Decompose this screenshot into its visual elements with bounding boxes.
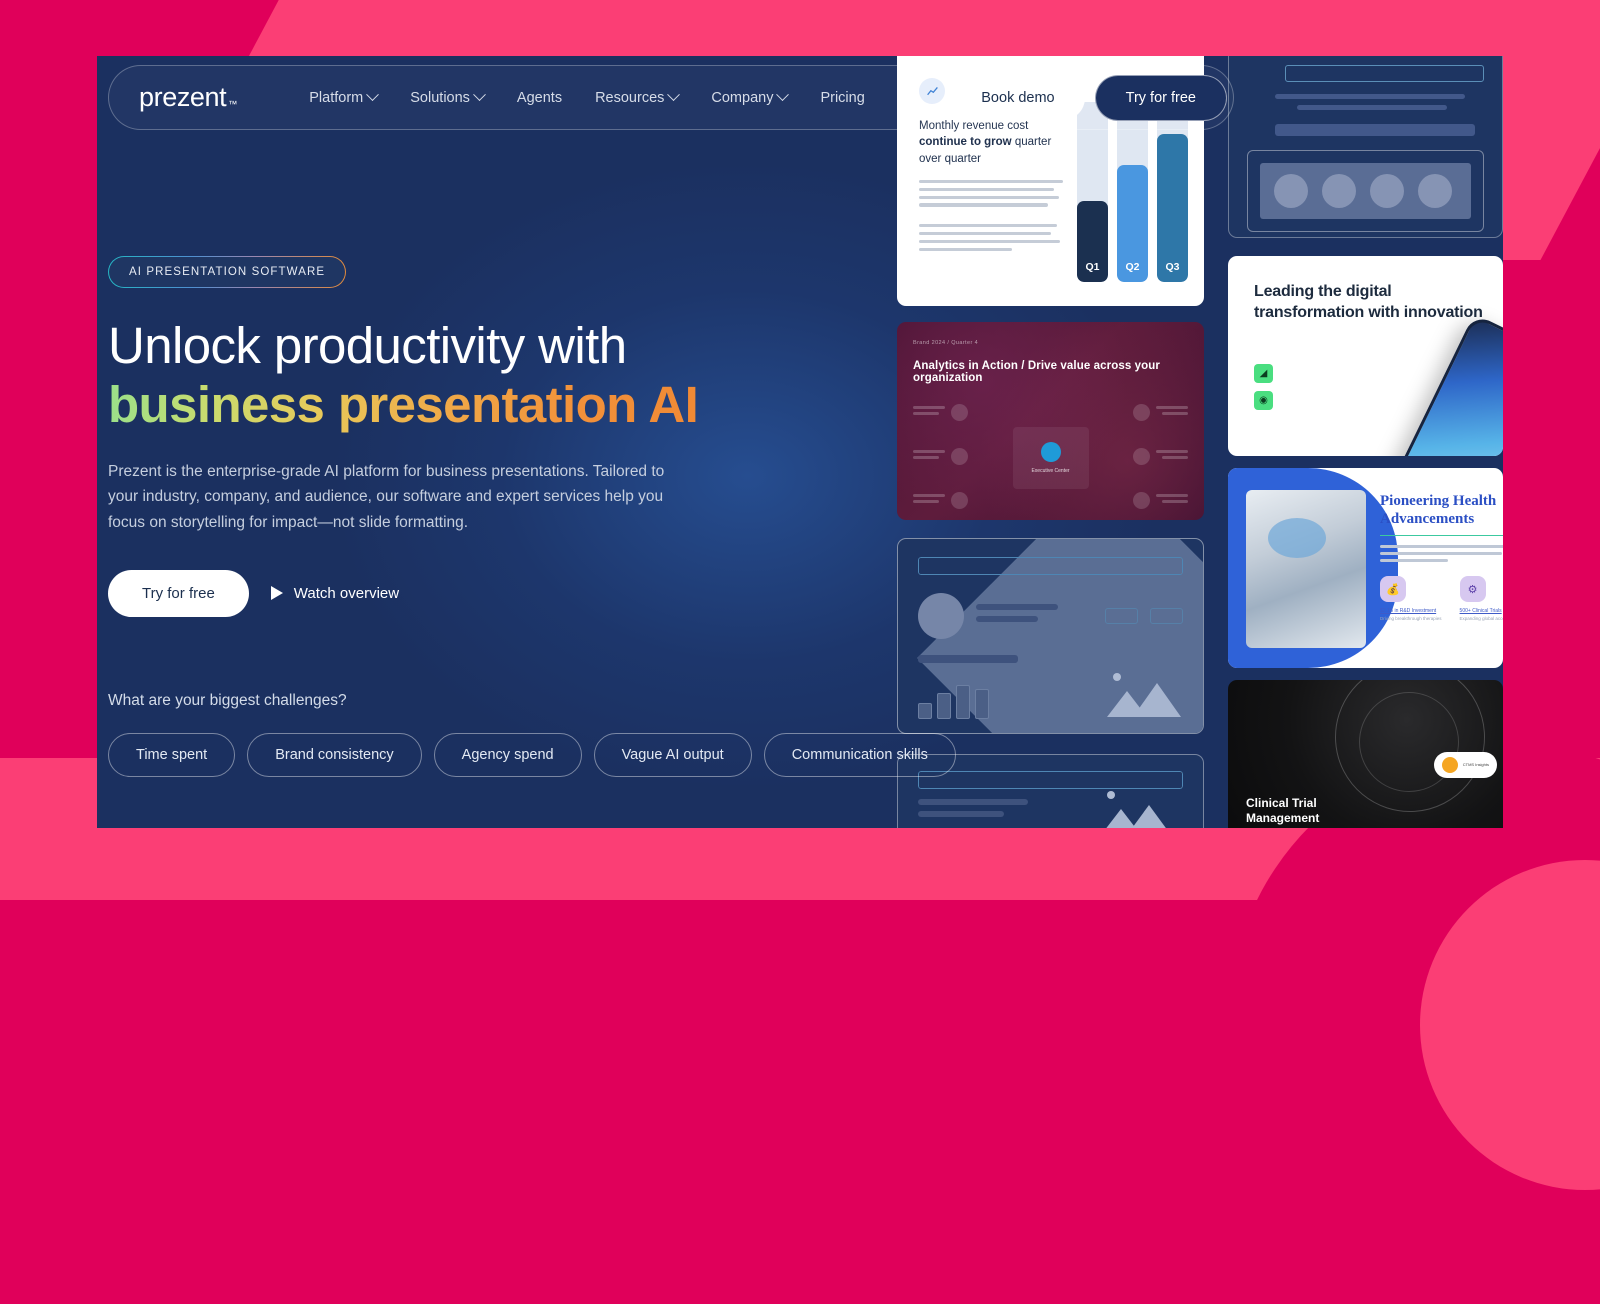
logo-text: prezent: [139, 82, 226, 113]
chip-vague-ai-output[interactable]: Vague AI output: [594, 733, 752, 777]
nav-item-resources[interactable]: Resources: [595, 90, 678, 106]
gear-icon: ⚙: [1460, 576, 1486, 602]
chart-icon: ◢: [1254, 364, 1273, 383]
analytics-center-node: Executive Center: [1013, 427, 1089, 489]
health-divider: [1380, 535, 1503, 536]
sun-dot-icon-2: [1107, 791, 1115, 799]
headline-line-1: Unlock productivity with: [108, 317, 626, 374]
nav-actions: Book demo Try for free: [951, 75, 1227, 121]
nav-label: Solutions: [410, 90, 470, 106]
wireframe2-header-bar: [918, 771, 1183, 789]
hero-badge: AI PRESENTATION SOFTWARE: [108, 256, 346, 288]
health-card-photo: [1246, 490, 1366, 648]
health-stat-2-title: 500+ Clinical Trials: [1460, 608, 1503, 614]
skeleton-avatar-strip: [1260, 163, 1471, 219]
nav-label: Pricing: [820, 90, 864, 106]
nav-label: Platform: [309, 90, 363, 106]
chip-agency-spend[interactable]: Agency spend: [434, 733, 582, 777]
page-title: Unlock productivity with business presen…: [108, 316, 898, 434]
clinical-pill-badge: CTMS Insights: [1434, 752, 1497, 778]
sun-icon: [1442, 757, 1458, 773]
health-stat-1-title: $2.1B in R&D Investment: [1380, 608, 1442, 614]
nav-label: Resources: [595, 90, 664, 106]
nav-item-solutions[interactable]: Solutions: [410, 90, 484, 106]
analytics-center-icon: [1041, 442, 1061, 462]
challenge-prompt: What are your biggest challenges?: [108, 692, 898, 710]
headline-line-2: business presentation AI: [108, 376, 698, 433]
chip-time-spent[interactable]: Time spent: [108, 733, 235, 777]
challenge-chips: Time spent Brand consistency Agency spen…: [108, 733, 898, 777]
bar-q2: Q2: [1117, 165, 1148, 282]
nav-label: Agents: [517, 90, 562, 106]
wireframe-wide-line: [918, 655, 1018, 663]
try-for-free-nav-button[interactable]: Try for free: [1095, 75, 1227, 121]
digital-transformation-card[interactable]: Leading the digital transformation with …: [1228, 256, 1503, 456]
analytics-title: Analytics in Action / Drive value across…: [913, 360, 1188, 384]
analytics-card[interactable]: Brand 2024 / Quarter 4 Analytics in Acti…: [897, 322, 1204, 520]
skeleton-dot-3: [1370, 174, 1404, 208]
chevron-down-icon: [777, 88, 790, 101]
try-for-free-hero-button[interactable]: Try for free: [108, 570, 249, 617]
health-card-content: Pioneering Health Advancements 💰 $2.1B i…: [1380, 492, 1503, 621]
analytics-center-label: Executive Center: [1031, 468, 1069, 474]
logo-trademark-icon: ™: [228, 99, 237, 109]
chip-brand-consistency[interactable]: Brand consistency: [247, 733, 421, 777]
nav-item-agents[interactable]: Agents: [517, 90, 562, 106]
wireframe-avatar-circle: [918, 593, 964, 639]
analytics-diagram: Executive Center: [913, 398, 1188, 518]
hero-paragraph: Prezent is the enterprise-grade AI platf…: [108, 459, 698, 534]
skeleton-dot-2: [1322, 174, 1356, 208]
nav-links: Platform Solutions Agents Resources Comp…: [309, 90, 865, 106]
play-icon: [271, 586, 283, 600]
image-placeholder-icon-2: [1095, 789, 1173, 828]
skeleton-outline-bar: [1285, 65, 1484, 82]
wireframe-placeholder-card[interactable]: [1228, 56, 1503, 238]
wireframe-header-bar: [918, 557, 1183, 575]
wireframe-chip-2: [1150, 608, 1183, 624]
health-title-line2: Advancements: [1380, 511, 1474, 527]
chip-communication-skills[interactable]: Communication skills: [764, 733, 956, 777]
watch-overview-button[interactable]: Watch overview: [271, 585, 399, 602]
health-stat-1: 💰 $2.1B in R&D Investment Driving breakt…: [1380, 576, 1442, 621]
website-screenshot-frame: prezent ™ Platform Solutions Agents Reso…: [97, 56, 1503, 828]
dashboard-wireframe-card[interactable]: [897, 538, 1204, 734]
sun-dot-icon: [1113, 673, 1121, 681]
skeleton-dot-4: [1418, 174, 1452, 208]
chart-title-bold: continue to grow: [919, 136, 1012, 148]
health-stat-1-sub: Driving breakthrough therapies: [1380, 616, 1442, 621]
chevron-down-icon: [473, 88, 486, 101]
health-stats: 💰 $2.1B in R&D Investment Driving breakt…: [1380, 576, 1503, 621]
bar-q1: Q1: [1077, 201, 1108, 282]
hero-cta-row: Try for free Watch overview: [108, 570, 898, 617]
chart-card-blurb: [919, 180, 1069, 251]
bar-label-q3: Q3: [1165, 261, 1179, 273]
health-advancements-card[interactable]: Pioneering Health Advancements 💰 $2.1B i…: [1228, 468, 1503, 668]
skeleton-box: [1247, 150, 1484, 232]
wireframe-profile-row: [918, 593, 1183, 639]
health-card-title: Pioneering Health Advancements: [1380, 492, 1503, 528]
nav-item-pricing[interactable]: Pricing: [820, 90, 864, 106]
chevron-down-icon: [668, 88, 681, 101]
watch-overview-label: Watch overview: [294, 585, 399, 602]
health-title-line1: Pioneering Health: [1380, 493, 1496, 509]
book-demo-button[interactable]: Book demo: [951, 76, 1084, 120]
bar-q3: Q3: [1157, 134, 1188, 282]
nav-label: Company: [711, 90, 773, 106]
chevron-down-icon: [366, 88, 379, 101]
bar-label-q1: Q1: [1085, 261, 1099, 273]
skeleton-dot-1: [1274, 174, 1308, 208]
nav-item-company[interactable]: Company: [711, 90, 787, 106]
bar-label-q2: Q2: [1125, 261, 1139, 273]
health-stat-2: ⚙ 500+ Clinical Trials Expanding global …: [1460, 576, 1503, 621]
wifi-icon: ◉: [1254, 391, 1273, 410]
wireframe-chip-1: [1105, 608, 1138, 624]
health-stat-2-sub: Expanding global access: [1460, 616, 1503, 621]
clinical-pill-label: CTMS Insights: [1463, 762, 1489, 767]
nav-item-platform[interactable]: Platform: [309, 90, 377, 106]
money-bag-icon: 💰: [1380, 576, 1406, 602]
image-placeholder-icon: [1101, 671, 1179, 717]
clinical-title-line2: Management: [1246, 811, 1319, 825]
clinical-title-line1: Clinical Trial: [1246, 796, 1317, 810]
analytics-kicker: Brand 2024 / Quarter 4: [913, 340, 1188, 346]
navigation-bar: prezent ™ Platform Solutions Agents Reso…: [108, 65, 1234, 130]
site-logo[interactable]: prezent ™: [139, 82, 237, 113]
digital-card-title: Leading the digital transformation with …: [1254, 282, 1503, 324]
wireframe-text-lines: [976, 604, 1093, 628]
hero-section: AI PRESENTATION SOFTWARE Unlock producti…: [108, 256, 898, 777]
clinical-trial-card[interactable]: CTMS Insights Clinical Trial Management: [1228, 680, 1503, 828]
clinical-card-title: Clinical Trial Management: [1246, 796, 1319, 826]
